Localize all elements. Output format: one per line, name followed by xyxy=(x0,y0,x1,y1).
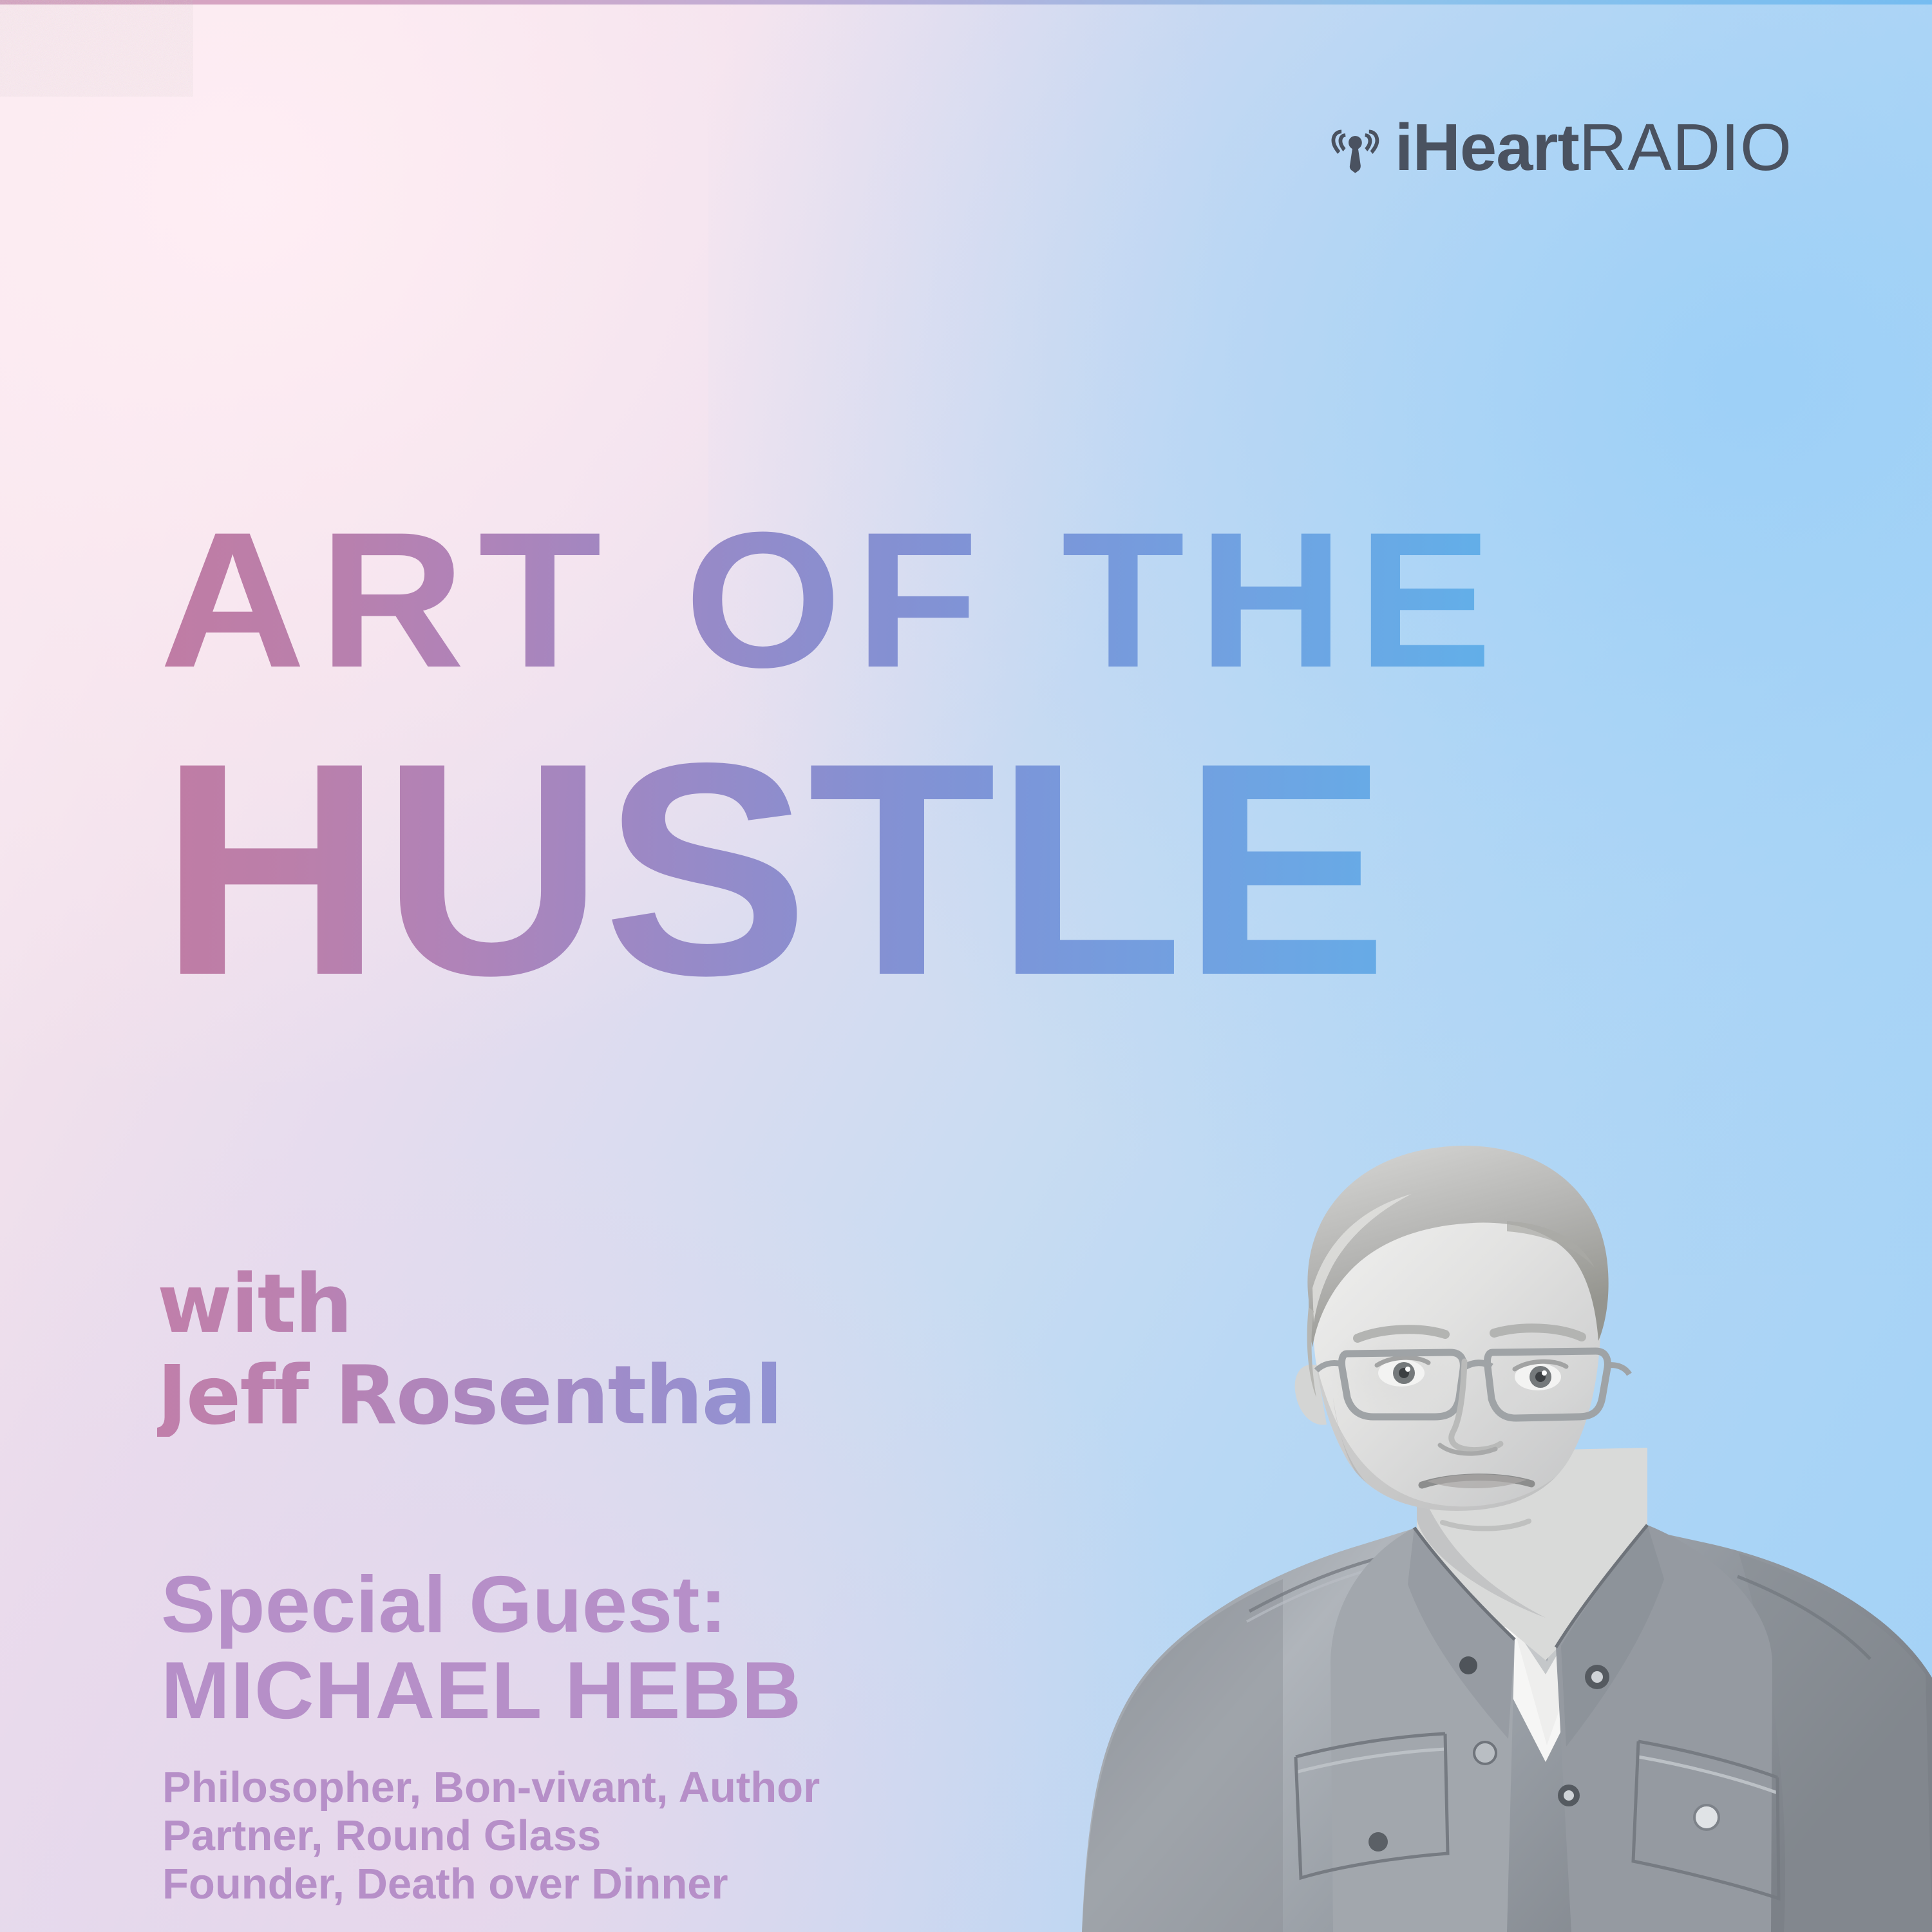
host-credit: with Jeff Rosenthal xyxy=(157,1265,1123,1437)
guest-credits: Philosopher, Bon-vivant, Author Partner,… xyxy=(162,1763,1167,1908)
film-grain-texture xyxy=(0,0,193,97)
host-name: Jeff Rosenthal xyxy=(157,1354,1123,1437)
iheartradio-wordmark: iHeartRADIO xyxy=(1395,114,1792,180)
iheartradio-logo[interactable]: iHeartRADIO xyxy=(1329,108,1792,185)
podcast-cover-art: iHeartRADIO xyxy=(0,0,1932,1932)
credit-line-3: Founder, Death over Dinner xyxy=(162,1860,1167,1908)
wordmark-iheart: iHeart xyxy=(1395,110,1579,184)
title-line-2: HUSTLE xyxy=(160,731,1841,1008)
show-title: ART OF THE HUSTLE xyxy=(160,518,1808,1008)
title-line-1: ART OF THE xyxy=(160,518,1882,681)
credit-line-1: Philosopher, Bon-vivant, Author xyxy=(162,1763,1167,1812)
guest-label: Special Guest: xyxy=(161,1566,1186,1643)
host-prefix: with xyxy=(157,1265,1123,1343)
film-grain-texture-secondary xyxy=(0,0,193,97)
portrait-illustration xyxy=(1056,1095,1932,1932)
guest-name: MICHAEL HEBB xyxy=(161,1650,1186,1731)
guest-portrait-photo xyxy=(1056,1095,1932,1932)
guest-block: Special Guest: MICHAEL HEBB xyxy=(161,1566,1166,1731)
top-edge-accent-line xyxy=(0,0,1932,5)
credit-line-2: Partner, Round Glass xyxy=(162,1812,1167,1860)
wordmark-radio: RADIO xyxy=(1579,110,1792,184)
iheart-heart-waves-icon xyxy=(1329,109,1382,185)
